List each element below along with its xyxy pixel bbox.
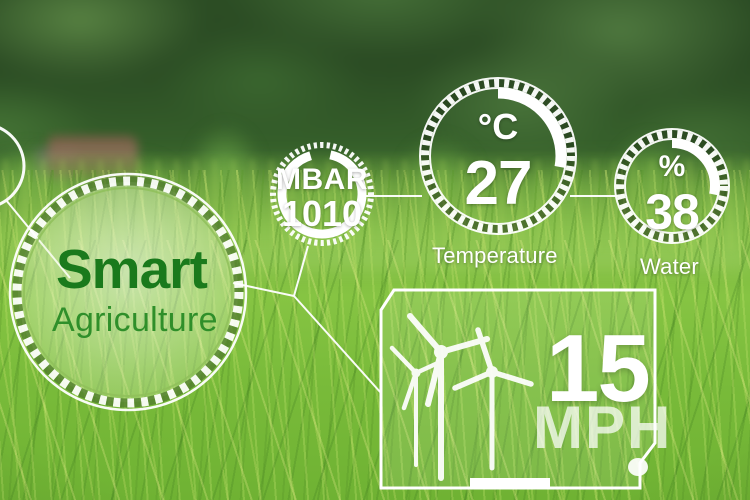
smart-agriculture-hud-screenshot: Smart Agriculture MBAR 1010 °C 27 Temper…: [0, 0, 750, 500]
wind-panel-bottom-bar: [470, 478, 550, 487]
hud-overlay: Smart Agriculture MBAR 1010 °C 27 Temper…: [0, 0, 750, 500]
wind-speed-unit: MPH: [533, 398, 672, 458]
